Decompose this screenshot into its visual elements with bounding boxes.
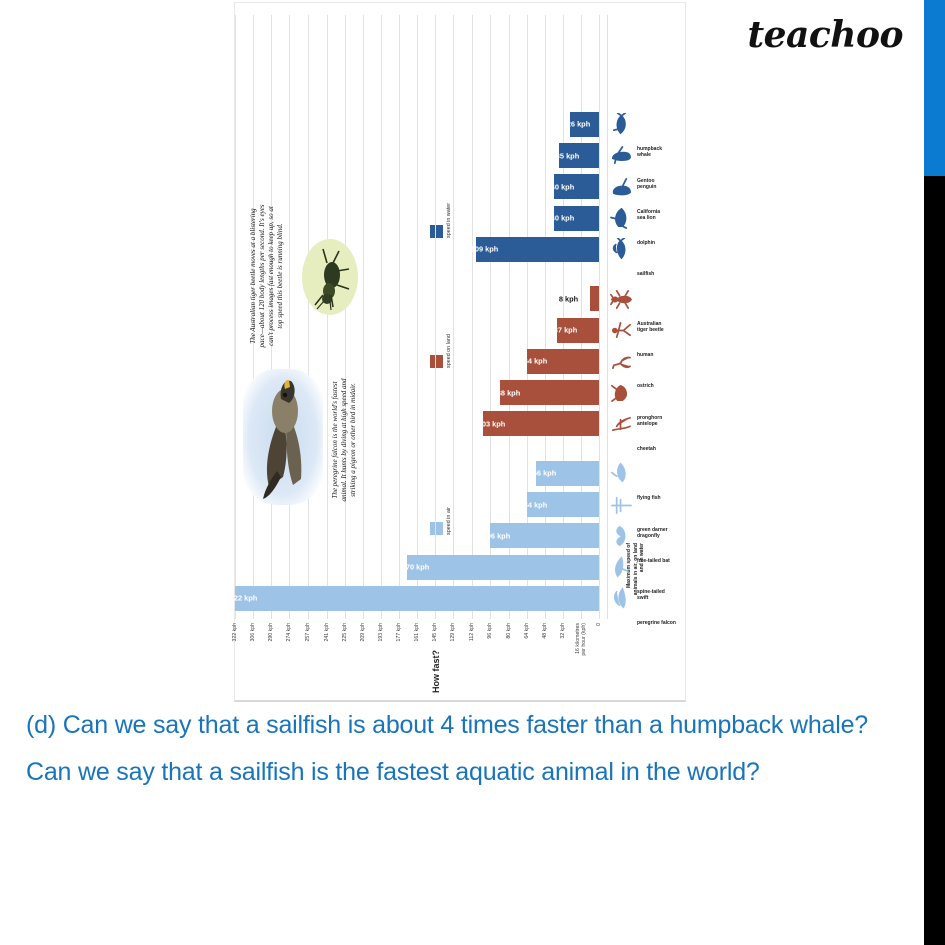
note-peregrine-falcon: The peregrine falcon is the world's fast… (331, 377, 358, 503)
human-icon (609, 319, 633, 341)
bar-dolphin: 40 kph (554, 206, 599, 231)
bar-value-label: 8 kph (559, 294, 578, 303)
bar-cheetah: 103 kph (483, 412, 599, 437)
category-label: peregrine falcon (637, 621, 681, 627)
bar-value-label: 26 kph (566, 120, 589, 129)
bar-ostrich: 64 kph (527, 349, 599, 374)
bar-value-label: 35 kph (556, 151, 579, 160)
category-label: cheetah (637, 446, 681, 452)
category-label: human (637, 352, 681, 358)
category-label: free-tailed bat (637, 558, 681, 564)
axis-tick-label: 64 kph (524, 623, 530, 639)
bar-value-label: 88 kph (496, 388, 519, 397)
spine-tailed-swift-icon (609, 556, 633, 578)
axis-tick-label: 129 kph (450, 623, 456, 641)
bar-value-label: 37 kph (554, 326, 577, 335)
pronghorn-antelope-icon (609, 382, 633, 404)
teachoo-logo: teachoo (748, 14, 903, 56)
category-label: green darner dragonfly (637, 527, 681, 539)
bar-value-label: 40 kph (551, 214, 574, 223)
gentoo-penguin-icon (609, 145, 633, 167)
peregrine-falcon-icon (609, 588, 633, 610)
bar-value-label: 103 kph (477, 420, 505, 429)
bar-humpback-whale: 26 kph (570, 112, 599, 137)
dolphin-icon (609, 207, 633, 229)
bar-sailfish: 109 kph (476, 237, 599, 262)
infographic-figure: How fast? speed in air speed on land spe… (234, 2, 686, 702)
category-axis: Maximum speed of animals in air, on land… (607, 15, 683, 619)
axis-tick-label: 0 (596, 623, 602, 626)
axis-tick-label: 257 kph (305, 623, 311, 641)
rotated-chart-stage: How fast? speed in air speed on land spe… (235, 3, 687, 703)
page-edge-accent-black (924, 176, 945, 945)
bar-australian-tiger-beetle: 8 kph (590, 286, 599, 311)
category-label: pronghorn antelope (637, 415, 681, 427)
flying-fish-icon (609, 462, 633, 484)
bar-california-sea-lion: 40 kph (554, 174, 599, 199)
chart-title: How fast? (431, 650, 441, 693)
category-label: Australian tiger beetle (637, 321, 681, 333)
axis-tick-label: 290 kph (268, 623, 274, 641)
bar-value-label: 40 kph (551, 182, 574, 191)
bar-green-darner-dragonfly: 64 kph (527, 492, 599, 517)
axis-tick-label: 161 kph (414, 623, 420, 641)
axis-tick-label: 322 kph (232, 623, 238, 641)
axis-tick-label: 145 kph (432, 623, 438, 641)
category-label: spine-tailed swift (637, 589, 681, 601)
axis-tick-label: 16 kilometres per hour (kph) (575, 623, 587, 657)
bar-free-tailed-bat: 96 kph (490, 523, 599, 548)
category-australian-tiger-beetle: Australian tiger beetle (607, 286, 683, 311)
bar-value-label: 109 kph (471, 245, 499, 254)
category-label: humpback whale (637, 146, 681, 158)
ostrich-icon (609, 350, 633, 372)
bar-pronghorn-antelope: 88 kph (500, 380, 599, 405)
bar-value-label: 96 kph (487, 531, 510, 540)
axis-tick-label: 225 kph (342, 623, 348, 641)
bar-value-label: 322 kph (230, 594, 258, 603)
bar-flying-fish: 56 kph (536, 461, 599, 486)
question-text: (d) Can we say that a sailfish is about … (26, 702, 898, 796)
axis-tick-label: 96 kph (487, 623, 493, 639)
free-tailed-bat-icon (609, 525, 633, 547)
category-label: California sea lion (637, 209, 681, 221)
category-label: flying fish (637, 495, 681, 501)
axis-tick-label: 209 kph (360, 623, 366, 641)
humpback-whale-icon (609, 113, 633, 135)
category-label: sailfish (637, 272, 681, 278)
bar-value-label: 64 kph (523, 500, 546, 509)
category-label: ostrich (637, 383, 681, 389)
gridline (599, 15, 600, 619)
axis-tick-label: 177 kph (396, 623, 402, 641)
axis-tick-label: 112 kph (469, 623, 475, 641)
bar-value-label: 64 kph (523, 357, 546, 366)
bar-peregrine-falcon: 322 kph (235, 586, 599, 611)
bar-spine-tailed-swift: 170 kph (407, 555, 599, 580)
axis-tick-label: 32 kph (560, 623, 566, 639)
california-sea-lion-icon (609, 176, 633, 198)
bar-gentoo-penguin: 35 kph (559, 143, 599, 168)
axis-tick-label: 193 kph (378, 623, 384, 641)
peregrine-falcon-illustration (241, 367, 325, 507)
note-tiger-beetle: The Australian tiger beetle moves at a b… (249, 201, 285, 351)
australian-tiger-beetle-illustration (299, 235, 361, 319)
category-label: dolphin (637, 240, 681, 246)
australian-tiger-beetle-icon (609, 288, 633, 310)
plot-area: 016 kilometres per hour (kph)32 kph48 kp… (235, 15, 599, 619)
category-label: Gentoo penguin (637, 178, 681, 190)
axis-tick-label: 80 kph (506, 623, 512, 639)
bar-human: 37 kph (557, 318, 599, 343)
bar-group: 322 kph170 kph96 kph64 kph56 kph103 kph8… (235, 15, 599, 619)
axis-tick-label: 48 kph (542, 623, 548, 639)
category-flying-fish: flying fish (607, 461, 683, 486)
bar-value-label: 56 kph (532, 469, 555, 478)
page-edge-accent-blue (924, 0, 945, 176)
axis-tick-label: 306 kph (250, 623, 256, 641)
green-darner-dragonfly-icon (609, 494, 633, 516)
bar-value-label: 170 kph (402, 563, 430, 572)
axis-tick-label: 274 kph (286, 623, 292, 641)
category-humpback-whale: humpback whale (607, 112, 683, 137)
sailfish-icon (609, 239, 633, 261)
axis-tick-label: 241 kph (324, 623, 330, 641)
cheetah-icon (609, 413, 633, 435)
